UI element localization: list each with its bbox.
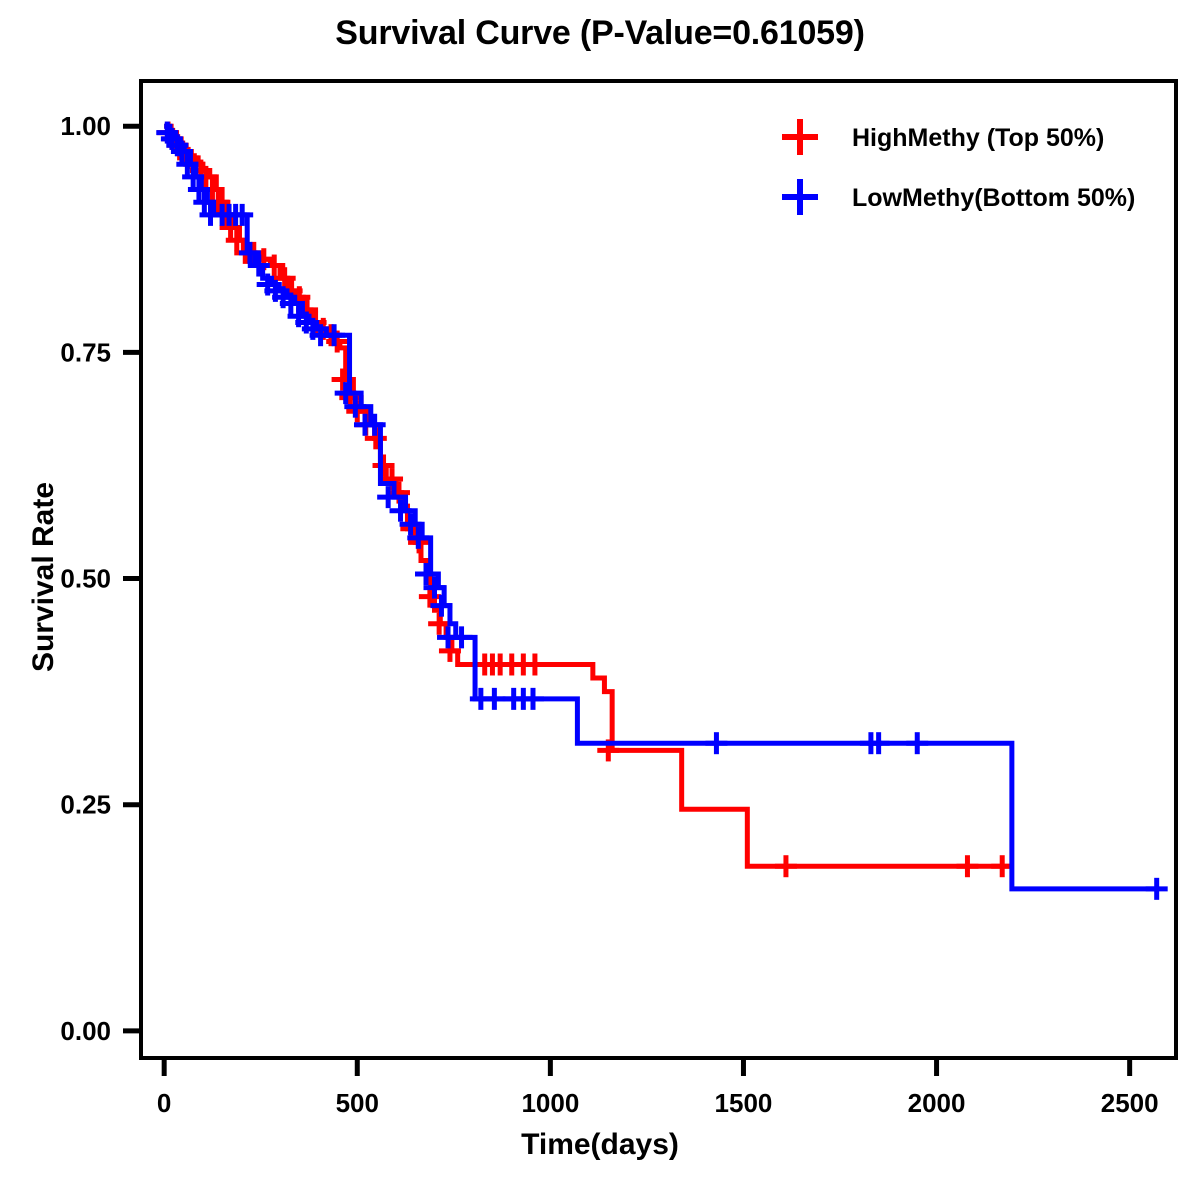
x-tick-label: 2000 — [908, 1088, 966, 1118]
plot-area: 05001000150020002500 0.000.250.500.751.0… — [0, 0, 1200, 1200]
censor-marks — [156, 122, 1167, 900]
y-tick-label: 0.00 — [60, 1016, 111, 1046]
legend-item[interactable]: HighMethy (Top 50%) — [782, 119, 1104, 155]
censor-marks — [157, 122, 1013, 878]
step-line — [164, 126, 1010, 866]
x-tick-label: 0 — [157, 1088, 171, 1118]
x-axis-ticks: 05001000150020002500 — [157, 1058, 1159, 1118]
legend-label: HighMethy (Top 50%) — [852, 124, 1104, 152]
step-line — [164, 126, 1157, 889]
survival-curve-figure: Survival Curve (P-Value=0.61059) Surviva… — [0, 0, 1200, 1200]
legend-label: LowMethy(Bottom 50%) — [852, 184, 1135, 212]
series-low-methy — [156, 122, 1167, 900]
plus-marker-icon — [782, 179, 818, 215]
y-tick-label: 0.25 — [60, 790, 111, 820]
series-layer — [156, 122, 1167, 900]
chart-legend: HighMethy (Top 50%)LowMethy(Bottom 50%) — [782, 119, 1135, 215]
y-tick-label: 0.50 — [60, 564, 111, 594]
x-tick-label: 2500 — [1101, 1088, 1159, 1118]
plot-frame — [141, 81, 1176, 1058]
y-tick-label: 0.75 — [60, 337, 111, 367]
x-tick-label: 1000 — [521, 1088, 579, 1118]
y-tick-label: 1.00 — [60, 111, 111, 141]
y-axis-ticks: 0.000.250.500.751.00 — [60, 111, 141, 1046]
legend-item[interactable]: LowMethy(Bottom 50%) — [782, 179, 1135, 215]
series-high-methy — [157, 122, 1013, 878]
plus-marker-icon — [782, 119, 818, 155]
x-tick-label: 1500 — [715, 1088, 773, 1118]
x-tick-label: 500 — [336, 1088, 379, 1118]
plot-border — [141, 81, 1176, 1058]
